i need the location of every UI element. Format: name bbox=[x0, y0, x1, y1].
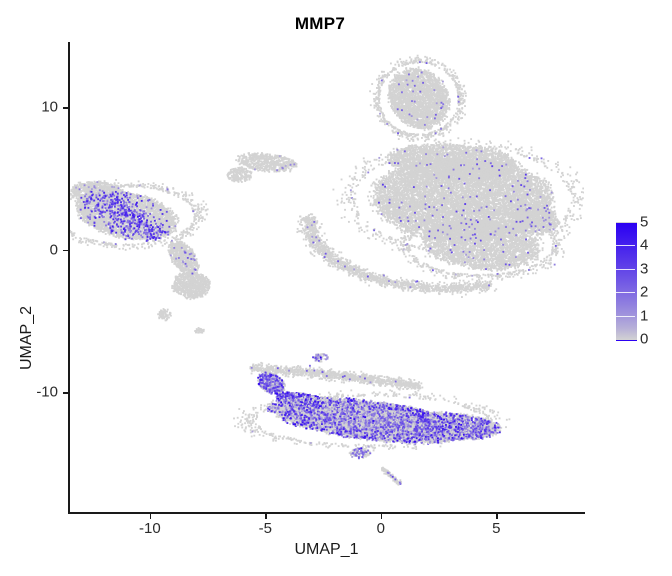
x-axis-spine bbox=[68, 512, 585, 514]
legend-tick-mark bbox=[616, 292, 635, 293]
legend-tick-mark bbox=[616, 245, 635, 246]
umap-scatter-canvas[interactable] bbox=[69, 43, 584, 513]
x-tick-label: 0 bbox=[377, 520, 385, 537]
x-tick-mark bbox=[265, 514, 267, 519]
legend-tick-label: 0 bbox=[640, 332, 648, 347]
legend-tick-mark bbox=[616, 269, 635, 270]
legend-tick-mark bbox=[616, 316, 635, 317]
x-tick-label: -5 bbox=[259, 520, 272, 537]
legend-tick-label: 4 bbox=[640, 238, 648, 253]
page-title: MMP7 bbox=[0, 14, 640, 34]
x-tick-mark bbox=[496, 514, 498, 519]
legend-gradient-bar bbox=[616, 222, 637, 341]
y-axis-title: UMAP_2 bbox=[18, 306, 36, 370]
y-tick-label: 10 bbox=[0, 99, 58, 116]
x-tick-mark bbox=[381, 514, 383, 519]
legend-tick-label: 5 bbox=[640, 215, 648, 230]
legend-tick-label: 2 bbox=[640, 285, 648, 300]
y-tick-mark bbox=[63, 250, 68, 252]
y-tick-mark bbox=[63, 107, 68, 109]
y-tick-mark bbox=[63, 392, 68, 394]
scatter-plot-panel[interactable] bbox=[69, 43, 584, 513]
x-tick-mark bbox=[150, 514, 152, 519]
color-legend[interactable]: 543210 bbox=[614, 218, 672, 346]
legend-tick-label: 1 bbox=[640, 308, 648, 323]
y-tick-label: 0 bbox=[0, 241, 58, 258]
feature-plot-figure: MMP7 -10-505100-10 UMAP_1 UMAP_2 543210 bbox=[0, 0, 672, 576]
y-tick-label: -10 bbox=[0, 383, 58, 400]
y-axis-spine bbox=[68, 42, 70, 514]
x-axis-title: UMAP_1 bbox=[69, 541, 584, 559]
x-tick-label: 5 bbox=[492, 520, 500, 537]
legend-tick-label: 3 bbox=[640, 261, 648, 276]
x-tick-label: -10 bbox=[139, 520, 161, 537]
